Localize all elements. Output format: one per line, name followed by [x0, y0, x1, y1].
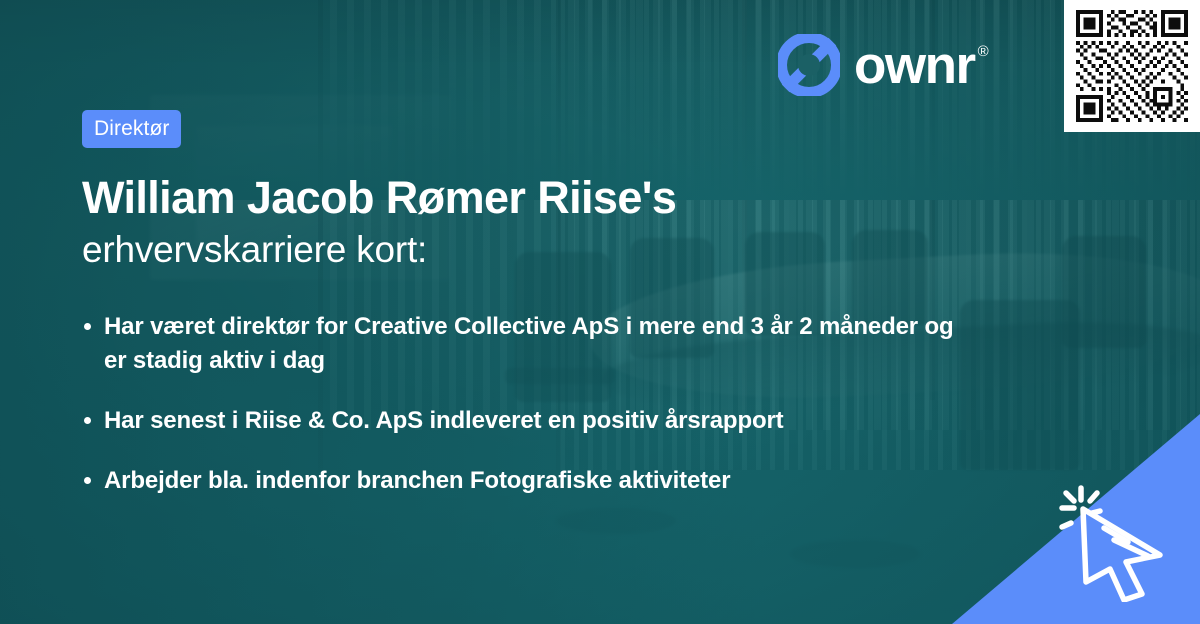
list-item: Arbejder bla. indenfor branchen Fotograf…	[82, 464, 982, 498]
page-subtitle: erhvervskarriere kort:	[82, 228, 962, 272]
brand-logo-text: ownr ®	[854, 39, 987, 92]
registered-trademark-icon: ®	[978, 44, 988, 59]
click-cursor-icon	[1056, 482, 1184, 602]
list-item: Har været direktør for Creative Collecti…	[82, 310, 982, 378]
brand-logo-wordmark: ownr	[854, 39, 975, 92]
background-ceiling	[0, 0, 1200, 62]
brand-logo[interactable]: ownr ®	[778, 34, 987, 96]
background-chair-base	[556, 508, 676, 534]
ownr-circle-logo-mark	[778, 34, 840, 96]
bullet-dot-icon	[84, 477, 91, 484]
career-summary-card: ownr ®	[0, 0, 1200, 624]
list-item: Har senest i Riise & Co. ApS indleveret …	[82, 404, 982, 438]
headline-block: Direktør William Jacob Rømer Riise's erh…	[82, 110, 962, 273]
list-item-label: Har senest i Riise & Co. ApS indleveret …	[104, 407, 784, 434]
qr-code-image	[1076, 10, 1188, 122]
role-badge: Direktør	[82, 110, 181, 148]
page-title: William Jacob Rømer Riise's	[82, 172, 962, 224]
bullet-dot-icon	[84, 323, 91, 330]
list-item-label: Har været direktør for Creative Collecti…	[104, 313, 954, 374]
list-item-label: Arbejder bla. indenfor branchen Fotograf…	[104, 467, 730, 494]
bullet-dot-icon	[84, 417, 91, 424]
career-highlights-list: Har været direktør for Creative Collecti…	[82, 310, 982, 498]
qr-code[interactable]	[1064, 0, 1200, 132]
background-chair-base	[790, 540, 920, 568]
